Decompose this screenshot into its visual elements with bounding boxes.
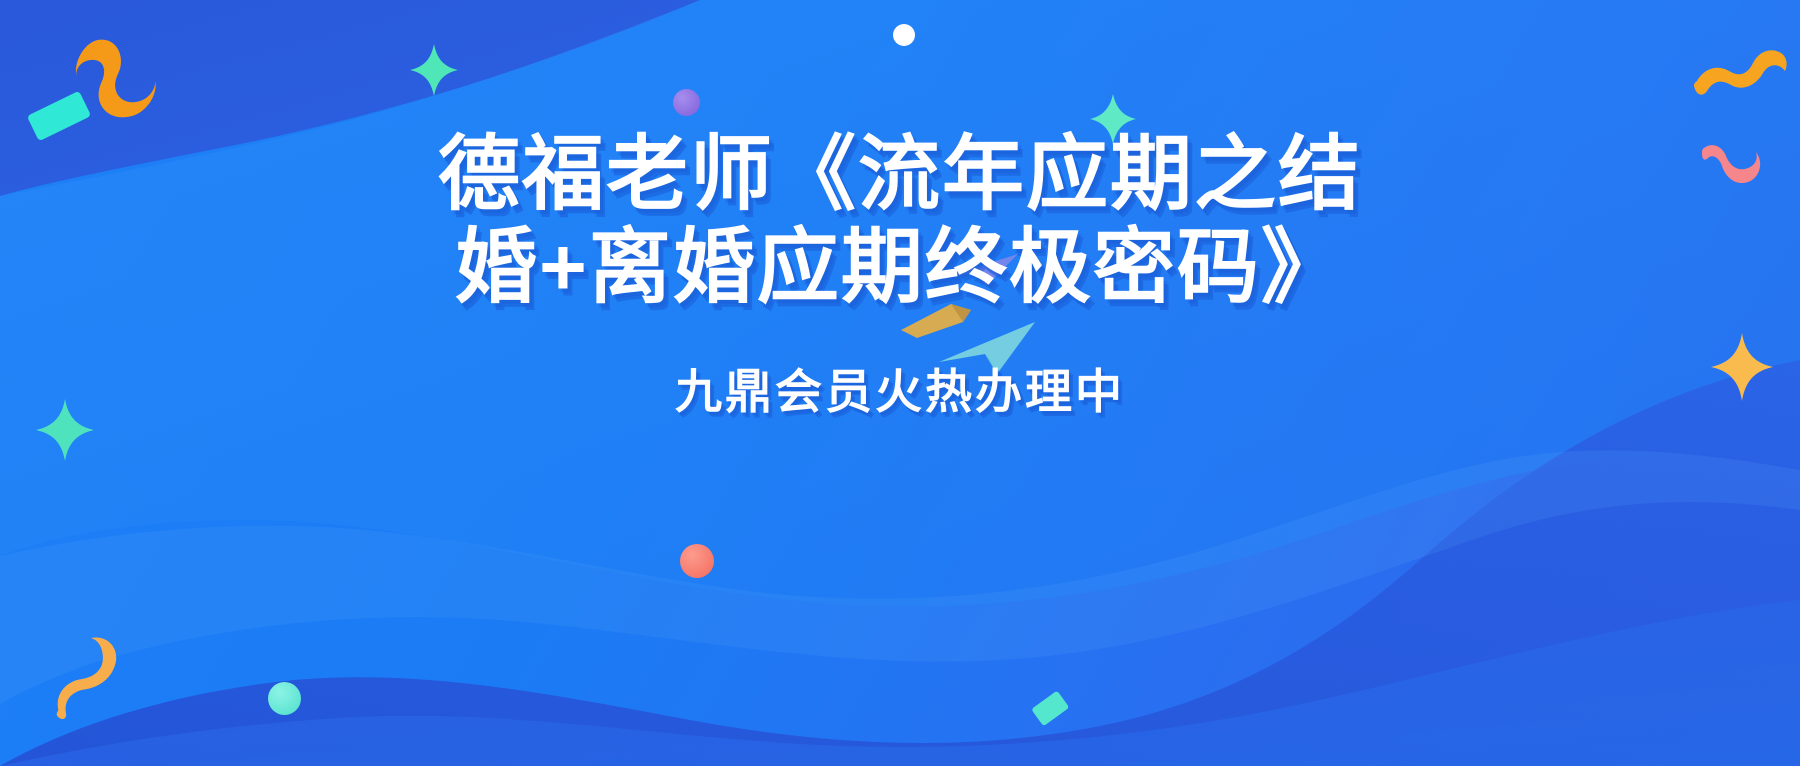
title-line-1: 德福老师《流年应期之结 (300, 128, 1500, 221)
banner-content: 德福老师《流年应期之结 婚+离婚应期终极密码》 九鼎会员火热办理中 (0, 128, 1800, 422)
page-title: 德福老师《流年应期之结 婚+离婚应期终极密码》 (0, 128, 1800, 315)
dot-white-top (893, 24, 915, 46)
promo-banner: 德福老师《流年应期之结 婚+离婚应期终极密码》 九鼎会员火热办理中 (0, 0, 1800, 766)
dot-coral-bottom (680, 544, 714, 578)
title-line-2: 婚+离婚应期终极密码》 (300, 221, 1500, 314)
banner-subtitle: 九鼎会员火热办理中 (0, 353, 1800, 422)
dot-purple-top (673, 89, 700, 116)
dot-cyan-bottom-left (268, 682, 301, 715)
